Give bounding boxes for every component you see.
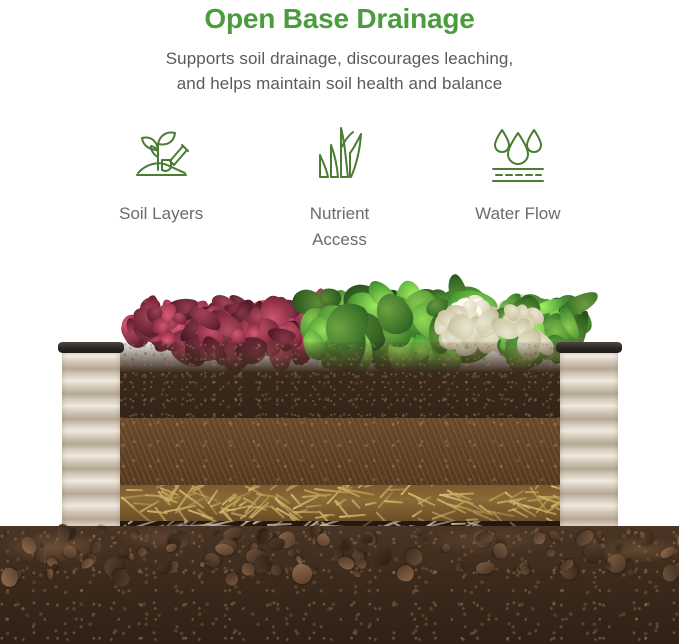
soil-clod bbox=[515, 569, 518, 573]
straw-strand bbox=[365, 502, 377, 507]
feature-label-nutrient-access: Nutrient Access bbox=[284, 201, 394, 253]
soil-layer-topsoil bbox=[120, 342, 560, 418]
straw-strand bbox=[123, 494, 147, 499]
soil-clod bbox=[3, 531, 6, 536]
straw-strand bbox=[376, 512, 401, 521]
soil-clod bbox=[475, 532, 494, 545]
straw-strand bbox=[145, 494, 167, 497]
straw-strand bbox=[364, 485, 381, 488]
feature-nutrient-access: Nutrient Access bbox=[250, 122, 428, 253]
soil-clod bbox=[200, 571, 205, 576]
soil-clod bbox=[441, 542, 452, 553]
soil-clod bbox=[662, 564, 679, 583]
soil-clod bbox=[476, 561, 496, 575]
soil-clod bbox=[423, 539, 429, 545]
soil-clod bbox=[225, 571, 239, 585]
soil-clod bbox=[61, 543, 79, 560]
straw-strand bbox=[384, 500, 403, 504]
page-subtitle: Supports soil drainage, discourages leac… bbox=[0, 46, 679, 96]
straw-strand bbox=[412, 510, 423, 518]
feature-water-flow: Water Flow bbox=[429, 122, 607, 227]
page-title: Open Base Drainage bbox=[0, 2, 679, 36]
soil-clod bbox=[626, 558, 633, 566]
subtitle-line-1: Supports soil drainage, discourages leac… bbox=[0, 46, 679, 71]
soil-clod bbox=[343, 539, 353, 551]
soil-clod bbox=[96, 524, 107, 535]
soil-clod bbox=[596, 531, 603, 538]
soil-layer-compost bbox=[120, 418, 560, 485]
soil-clod bbox=[110, 535, 117, 541]
plant-bed-foliage bbox=[120, 280, 560, 344]
straw-strand bbox=[352, 500, 362, 510]
soil-clod bbox=[396, 564, 414, 581]
straw-strand bbox=[407, 485, 416, 487]
subtitle-line-2: and helps maintain soil health and balan… bbox=[0, 71, 679, 96]
soil-clod bbox=[532, 532, 545, 545]
soil-clod bbox=[626, 527, 633, 535]
soil-clod bbox=[520, 565, 530, 576]
feature-label-soil-layers: Soil Layers bbox=[119, 201, 203, 227]
soil-clod bbox=[47, 569, 53, 580]
soil-clod bbox=[165, 543, 178, 554]
straw-strand bbox=[430, 485, 442, 487]
planter-rim-right bbox=[556, 342, 622, 353]
straw-strand bbox=[504, 491, 512, 498]
soil-clod bbox=[628, 569, 635, 577]
soil-clod bbox=[290, 562, 314, 586]
planter-rim-left bbox=[58, 342, 124, 353]
straw-strand bbox=[339, 514, 366, 518]
header-section: Open Base Drainage Supports soil drainag… bbox=[0, 0, 679, 96]
soil-clod bbox=[675, 528, 679, 549]
grass-blades-icon bbox=[310, 122, 368, 184]
soil-clod bbox=[199, 561, 205, 568]
soil-clod bbox=[40, 543, 44, 548]
soil-clod bbox=[34, 548, 47, 562]
straw-strand bbox=[306, 504, 322, 508]
ground-soil bbox=[0, 526, 679, 644]
water-droplets-icon bbox=[487, 122, 549, 184]
soil-clod bbox=[615, 544, 626, 555]
soil-clod bbox=[214, 531, 223, 537]
product-scene bbox=[0, 280, 679, 644]
straw-strand bbox=[126, 489, 143, 491]
soil-clod bbox=[455, 562, 461, 572]
feature-soil-layers: Soil Layers bbox=[72, 122, 250, 227]
soil-clod bbox=[545, 548, 555, 557]
soil-clod bbox=[129, 529, 140, 541]
feature-label-water-flow: Water Flow bbox=[475, 201, 560, 227]
soil-clod bbox=[415, 528, 423, 535]
soil-clod bbox=[546, 529, 561, 544]
soil-clod bbox=[1, 567, 18, 586]
soil-layer-straw bbox=[120, 485, 560, 521]
straw-strand bbox=[534, 485, 548, 490]
soil-clod bbox=[269, 562, 284, 577]
feature-list: Soil Layers Nutrient Access Wat bbox=[0, 122, 679, 253]
soil-clod bbox=[373, 544, 394, 565]
sprout-shovel-icon bbox=[130, 122, 192, 184]
